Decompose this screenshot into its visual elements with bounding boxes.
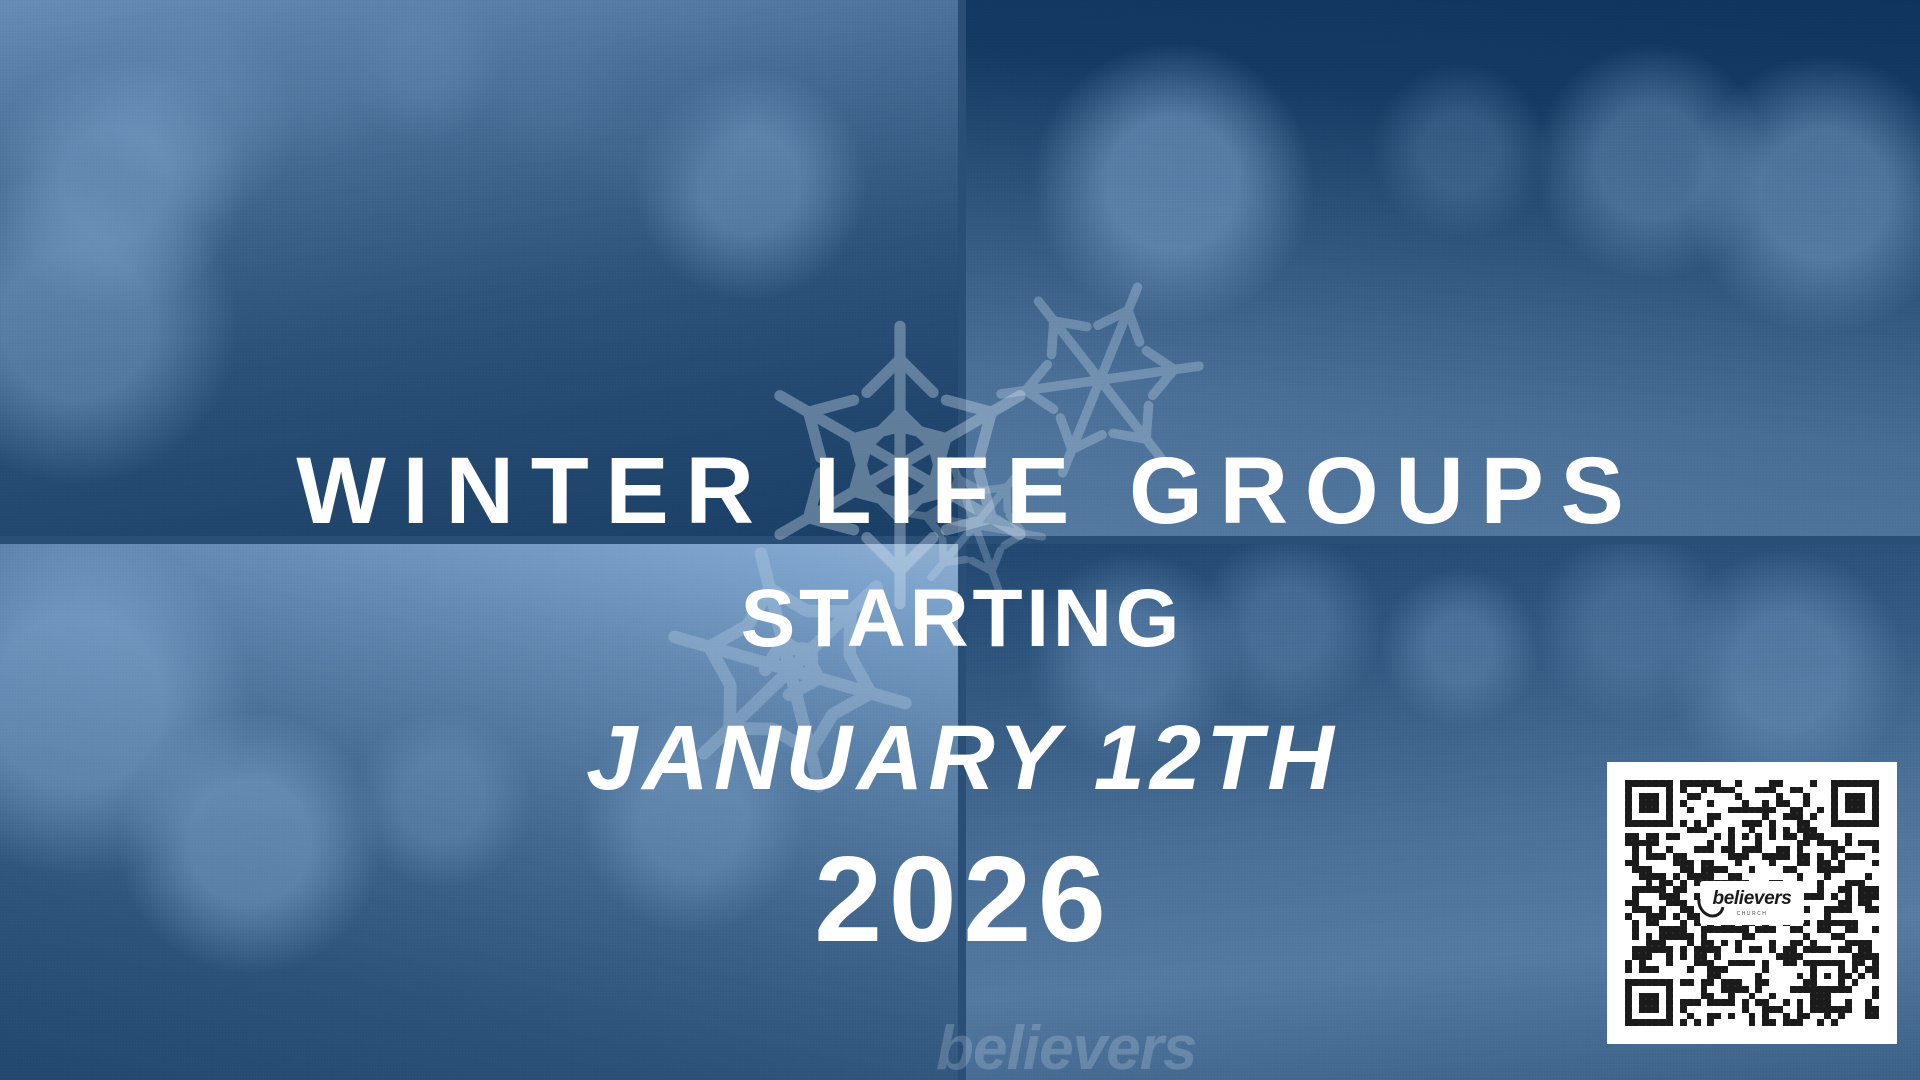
qr-code[interactable]: believers CHURCH [1607,762,1897,1044]
qr-code-matrix: believers CHURCH [1625,780,1879,1026]
duotone-shade [0,0,962,540]
qr-brand-logo: believers CHURCH [1700,881,1804,925]
poster-canvas: WINTER LIFE GROUPS STARTING JANUARY 12TH… [0,0,1920,1080]
qr-brand-sub: CHURCH [1737,911,1768,917]
collage-panel-bottom-left [0,540,962,1080]
duotone-shade [962,0,1920,540]
collage-divider-horizontal [0,536,1920,544]
duotone-shade [0,540,962,1080]
collage-panel-top-left [0,0,962,540]
collage-panel-top-right [962,0,1920,540]
